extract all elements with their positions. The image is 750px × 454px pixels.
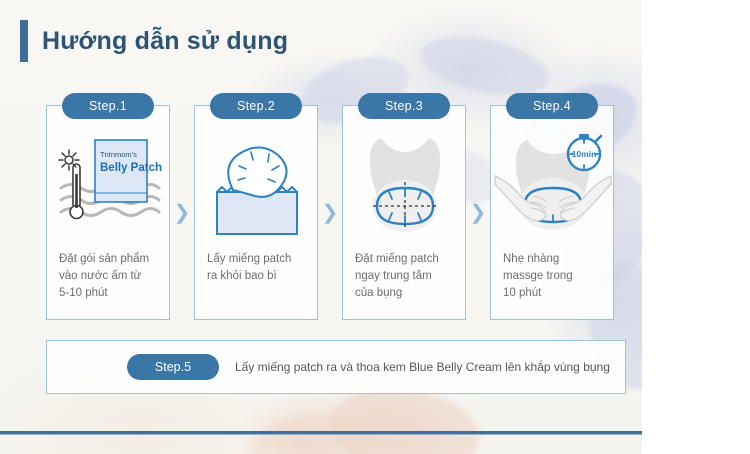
step-caption-3: Đặt miếng patch ngay trung tâm của bụng	[355, 251, 457, 302]
page-title-text: Hướng dẫn sử dụng	[42, 27, 288, 56]
step-caption-4: Nhẹ nhàng massge trong 10 phút	[503, 251, 605, 302]
timer-badge-text: 10min	[572, 149, 597, 159]
steps-row: Step.1 Tntnmom's Belly Patch	[46, 105, 614, 320]
step-pill-1: Step.1	[62, 93, 154, 119]
slide-root: Hướng dẫn sử dụng Step.1 Tntnmom's	[0, 0, 750, 454]
step-caption-2: Lấy miếng patch ra khỏi bao bì	[207, 251, 309, 285]
step-card-2[interactable]: Step.2	[194, 105, 318, 320]
step-art-torso-patch-center	[343, 130, 465, 245]
bottom-rule-secondary	[0, 434, 642, 435]
step-pill-2: Step.2	[210, 93, 302, 119]
chevron-separator-icon: ❯	[318, 105, 342, 320]
step-card-1[interactable]: Step.1 Tntnmom's Belly Patch	[46, 105, 170, 320]
chevron-separator-icon: ❯	[170, 105, 194, 320]
timer-badge-icon: 10min	[568, 134, 601, 170]
page-title: Hướng dẫn sử dụng	[20, 20, 288, 62]
step-art-hands-massage: 10min	[491, 130, 613, 245]
chevron-separator-icon: ❯	[466, 105, 490, 320]
step-art-patch-out-of-package	[195, 130, 317, 245]
step-caption-1: Đặt gói sản phẩm vào nước ấm từ 5-10 phú…	[59, 251, 161, 302]
step-pill-5: Step.5	[127, 354, 219, 380]
step-card-4[interactable]: Step.4	[490, 105, 614, 320]
step-art-thermometer-water-package: Tntnmom's Belly Patch	[47, 130, 169, 245]
step-pill-4: Step.4	[506, 93, 598, 119]
step5-banner[interactable]: Step.5 Lấy miếng patch ra và thoa kem Bl…	[46, 340, 626, 394]
step5-text: Lấy miếng patch ra và thoa kem Blue Bell…	[235, 360, 610, 374]
title-accent-bar	[20, 20, 28, 62]
package-brand-text: Tntnmom's	[100, 150, 137, 159]
package-product-text: Belly Patch	[100, 162, 162, 174]
step-card-3[interactable]: Step.3	[342, 105, 466, 320]
step-pill-3: Step.3	[358, 93, 450, 119]
